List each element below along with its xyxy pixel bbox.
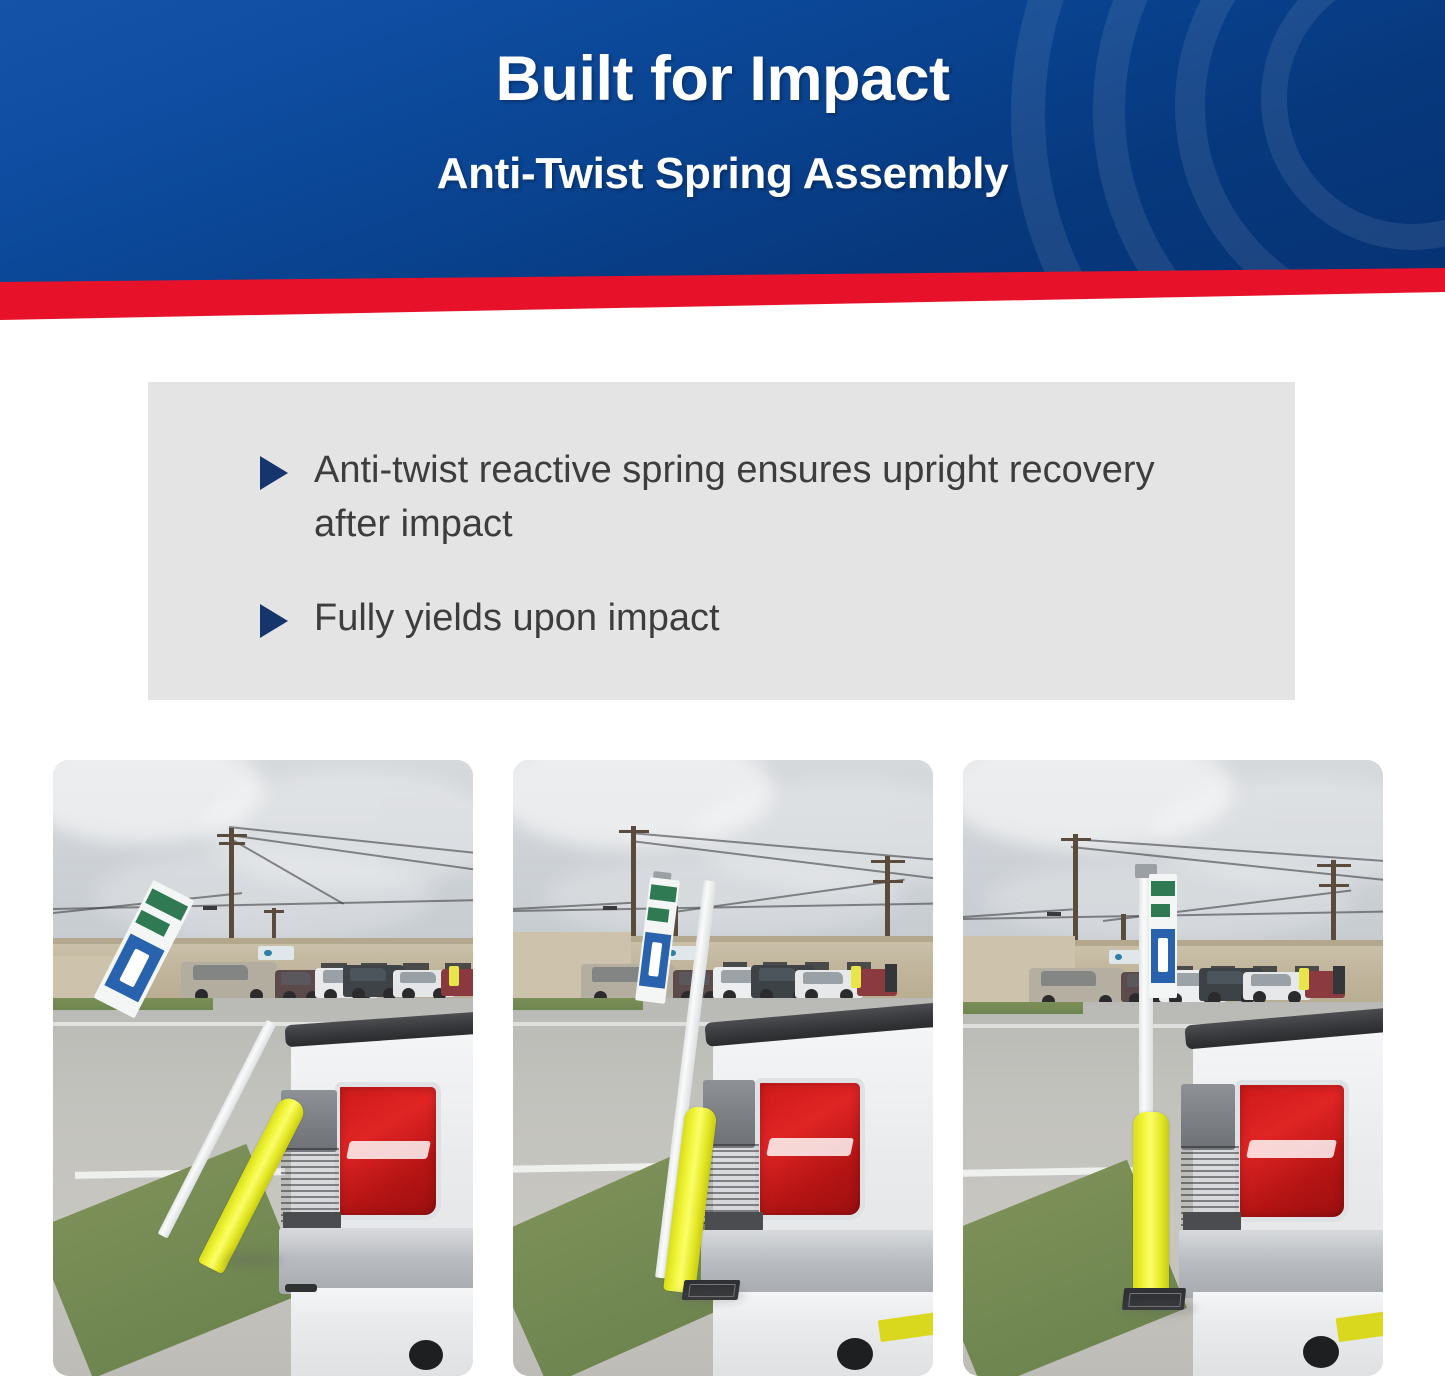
pickup-truck — [963, 760, 1383, 1376]
photo-bollard-fully-yielded — [53, 760, 473, 1376]
truck-lower-body — [291, 1288, 473, 1376]
bollard-shadow — [675, 1288, 745, 1304]
truck-chrome-bumper — [1179, 1230, 1383, 1298]
truck-exhaust-tip — [409, 1340, 443, 1370]
bollard-shadow — [223, 1252, 283, 1268]
feature-bullet-list: Anti-twist reactive spring ensures uprig… — [260, 444, 1230, 646]
truck-taillight — [755, 1078, 865, 1220]
truck-taillight — [1235, 1080, 1349, 1222]
truck-hitch — [285, 1284, 317, 1292]
bollard-shadow — [1119, 1300, 1197, 1316]
triangle-right-icon — [260, 604, 288, 638]
photo-gallery — [0, 760, 1445, 1376]
feature-bullet-text: Fully yields upon impact — [314, 592, 720, 646]
truck-exhaust-tip — [1303, 1336, 1339, 1368]
feature-panel: Anti-twist reactive spring ensures uprig… — [148, 382, 1295, 700]
pickup-truck — [53, 760, 473, 1376]
feature-bullet-text: Anti-twist reactive spring ensures uprig… — [314, 444, 1230, 552]
photo-bollard-upright-recovered — [963, 760, 1383, 1376]
accessible-parking-sign — [1149, 874, 1177, 998]
page-subtitle: Anti-Twist Spring Assembly — [0, 152, 1445, 196]
truck-taillight — [335, 1082, 441, 1220]
header-banner: Built for Impact Anti-Twist Spring Assem… — [0, 0, 1445, 322]
photo-bollard-recovering — [513, 760, 933, 1376]
list-item: Anti-twist reactive spring ensures uprig… — [260, 444, 1230, 552]
list-item: Fully yields upon impact — [260, 592, 1230, 646]
yellow-bollard-sleeve — [1133, 1112, 1169, 1296]
truck-exhaust-tip — [837, 1338, 873, 1370]
page-title: Built for Impact — [0, 48, 1445, 111]
truck-bumper-step — [1181, 1084, 1235, 1150]
triangle-right-icon — [260, 456, 288, 490]
arc-ring-4-icon — [1011, 0, 1445, 292]
